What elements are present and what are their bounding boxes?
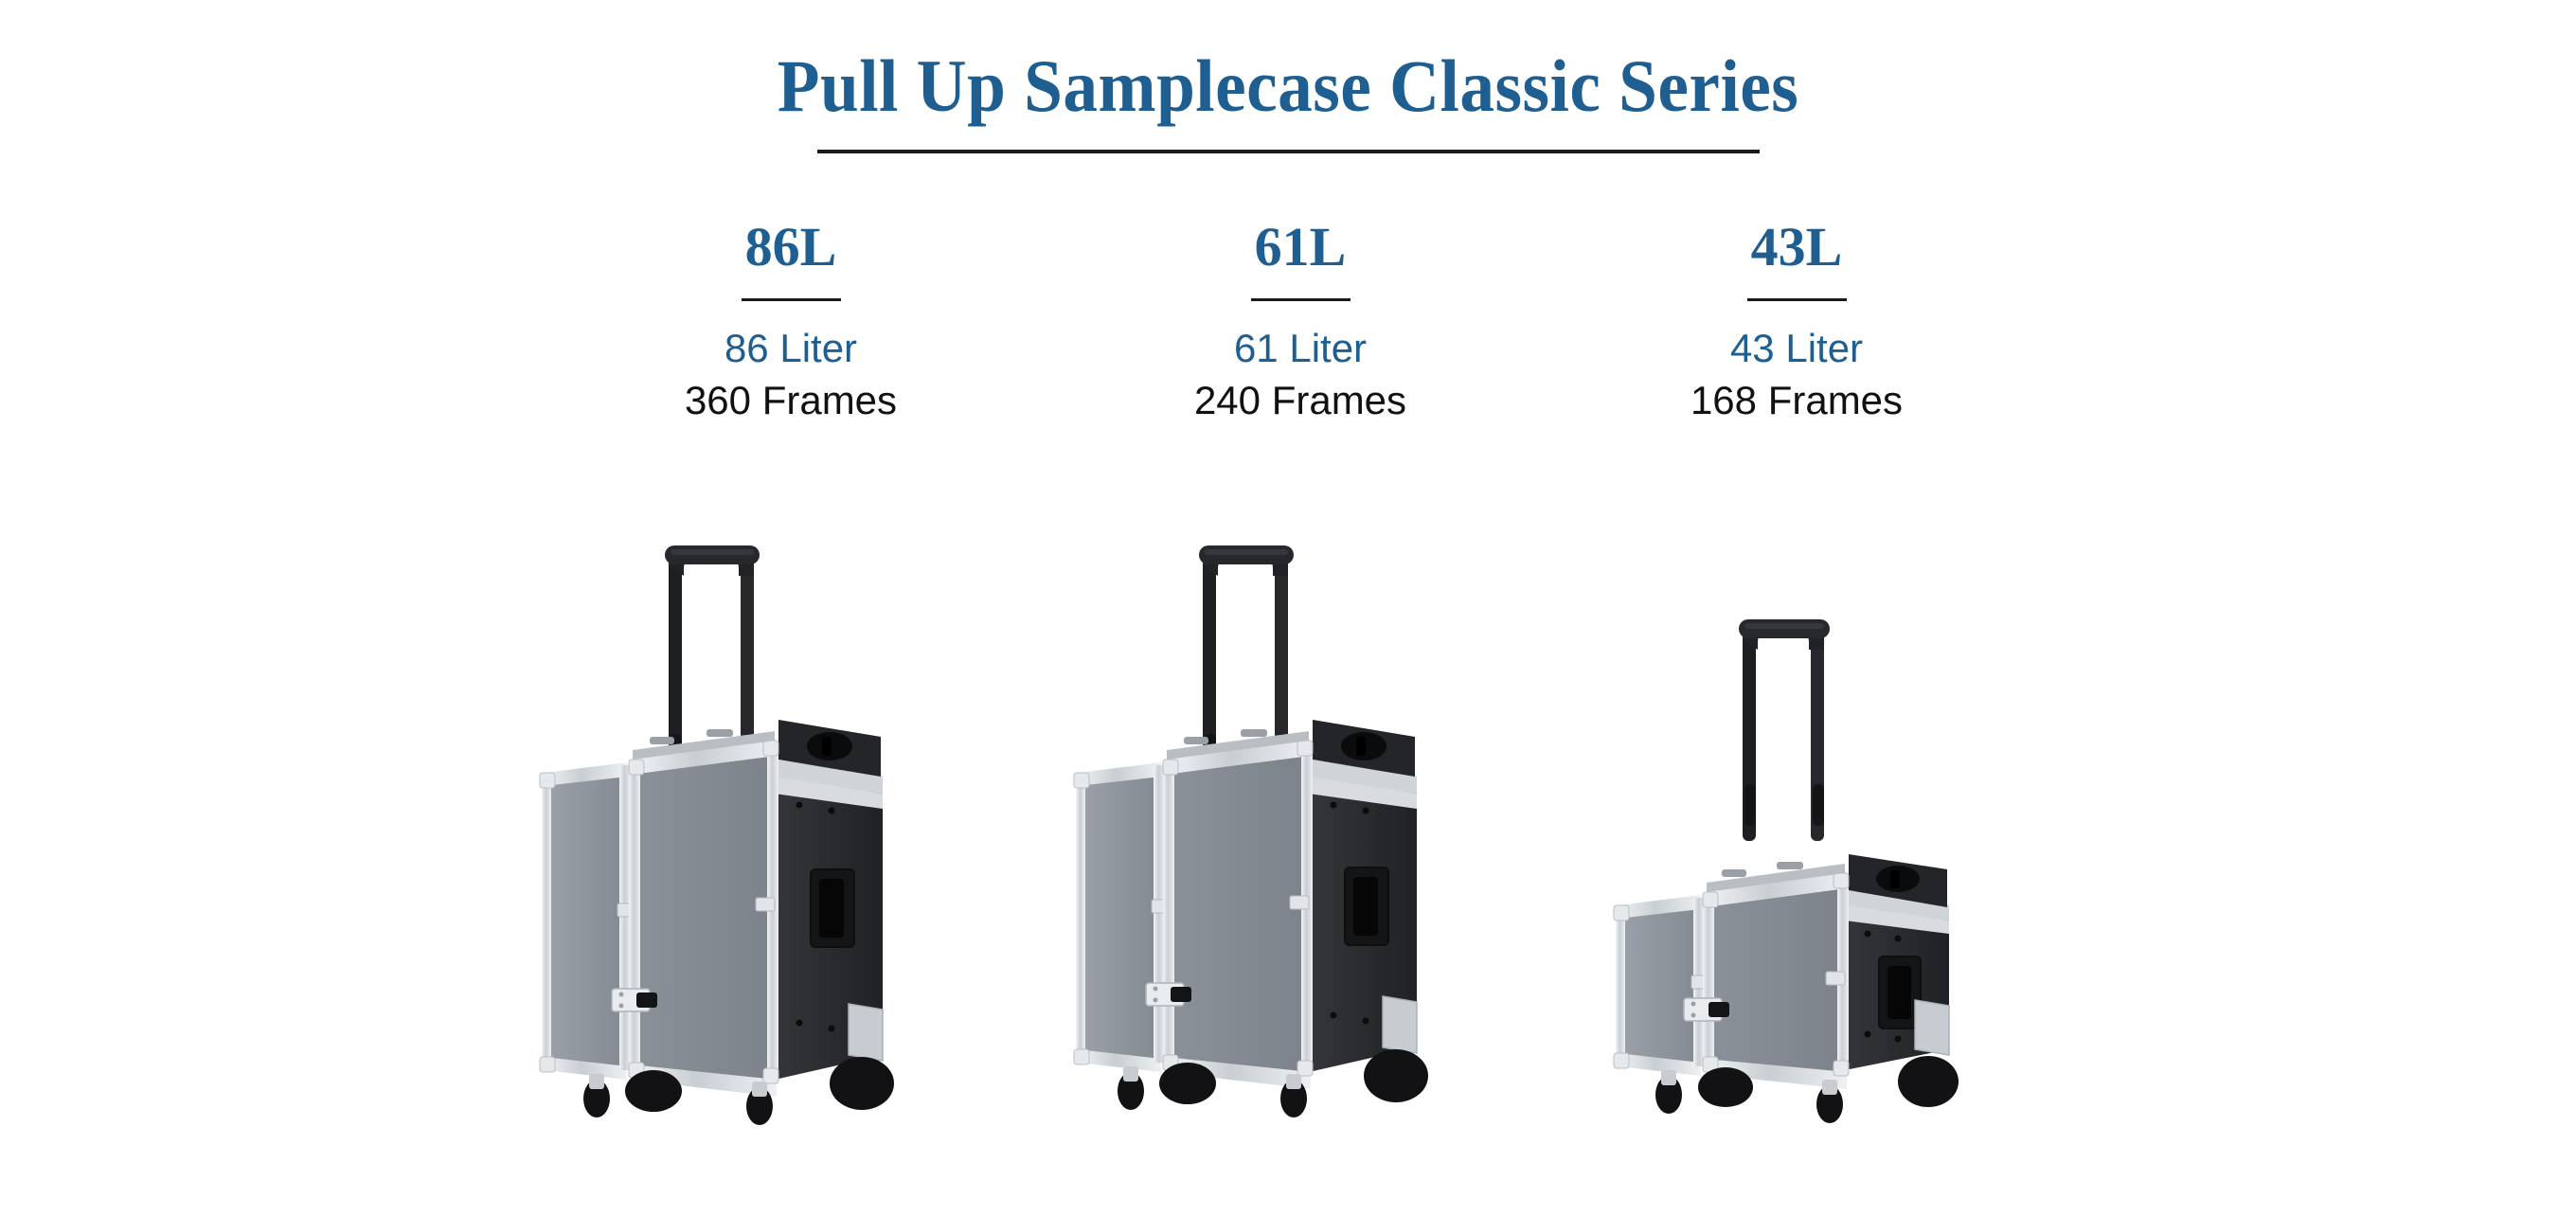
case-side-panel-43l: [1845, 854, 1949, 1070]
trolley-handle-43l: [1739, 619, 1830, 841]
case-front-left-panel-86l: [540, 762, 635, 1080]
case-front-left-panel-61l: [1074, 762, 1169, 1072]
case-front-main-panel-86l: [629, 729, 778, 1097]
product-images: [0, 0, 2576, 1216]
case-front-main-panel-43l: [1703, 862, 1849, 1089]
case-side-panel-86l: [775, 720, 883, 1080]
side-recessed-handle-86l: [811, 869, 854, 947]
product-image-86l: [530, 492, 928, 1136]
case-front-left-panel-43l: [1614, 895, 1708, 1076]
side-recessed-handle-61l: [1345, 867, 1388, 945]
case-side-panel-61l: [1309, 720, 1417, 1072]
case-front-main-panel-61l: [1163, 729, 1313, 1089]
product-image-61l: [1061, 492, 1458, 1136]
product-image-43l: [1601, 492, 1998, 1136]
